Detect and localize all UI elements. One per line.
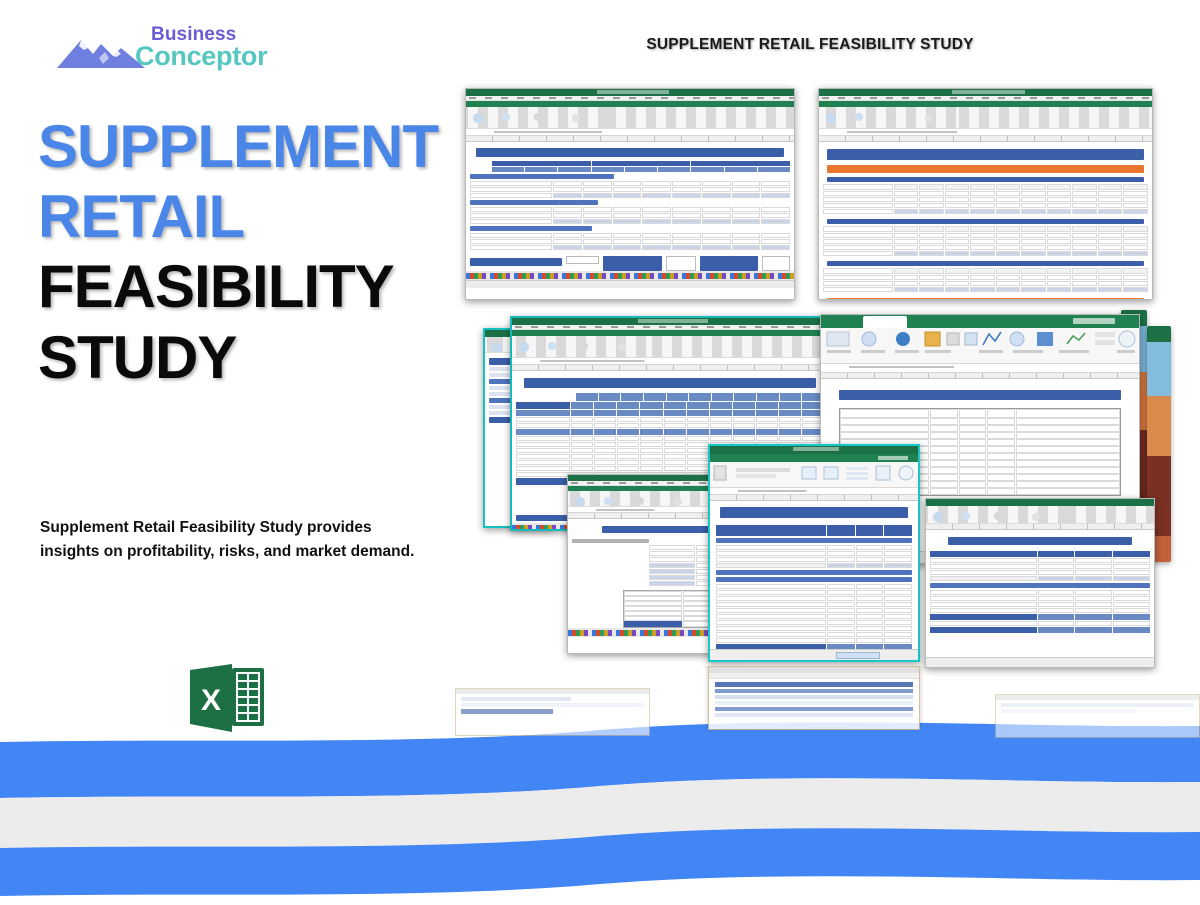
- hero-title-line-2: RETAIL: [38, 182, 468, 252]
- formula-bar[interactable]: [710, 488, 918, 495]
- formula-bar[interactable]: [819, 129, 1152, 136]
- progression-banner: [700, 256, 758, 271]
- brand-name-bottom: Conceptor: [135, 41, 267, 72]
- reflection-window: [995, 694, 1200, 738]
- ribbon-toolbar[interactable]: [466, 107, 794, 129]
- sheet-title-banner: [827, 149, 1144, 160]
- sheet-title-banner: [524, 378, 816, 388]
- sheet-title-banner: [602, 526, 712, 533]
- ribbon-tab-active[interactable]: [863, 316, 907, 328]
- mountain-icon: [55, 30, 147, 70]
- worksheet-grid[interactable]: [710, 501, 918, 662]
- sheet-title-banner: [948, 537, 1132, 545]
- window-titlebar[interactable]: [512, 318, 828, 325]
- formula-bar[interactable]: [512, 358, 828, 365]
- reflection-window: [708, 666, 920, 730]
- formula-bar[interactable]: [821, 364, 1139, 373]
- formula-bar[interactable]: [466, 129, 794, 136]
- sheet-title-banner: [839, 390, 1121, 400]
- ribbon-toolbar[interactable]: [819, 107, 1152, 129]
- section-label: [470, 174, 614, 179]
- page-header-title: SUPPLEMENT RETAIL FEASIBILITY STUDY: [560, 36, 1060, 54]
- ribbon-toolbar[interactable]: [512, 336, 828, 358]
- section-label: [930, 583, 1150, 588]
- excel-icon-letter: X: [201, 684, 221, 717]
- section-label: [470, 226, 592, 231]
- excel-window-partial-right[interactable]: [925, 498, 1155, 668]
- excel-window-compte-resultat[interactable]: [708, 444, 920, 662]
- ribbon-toolbar[interactable]: [821, 328, 1139, 364]
- worksheet-grid[interactable]: [466, 142, 794, 271]
- section-label: [470, 200, 598, 205]
- hero-title-line-4: STUDY: [38, 323, 468, 393]
- sheet-tab-bar[interactable]: [710, 649, 918, 660]
- os-taskbar[interactable]: [466, 271, 794, 280]
- hero-title: SUPPLEMENT RETAIL FEASIBILITY STUDY: [38, 112, 468, 393]
- excel-window-chiffre-affaires[interactable]: [465, 88, 795, 300]
- section-label: [716, 577, 912, 582]
- total-banner: [470, 258, 562, 266]
- section-label: [572, 539, 649, 543]
- hero-title-line-3: FEASIBILITY: [38, 252, 468, 322]
- collage-reflection: [455, 666, 1200, 784]
- window-titlebar[interactable]: [466, 89, 794, 96]
- excel-window-budget-previsionnel[interactable]: [818, 88, 1153, 300]
- section-label: [716, 570, 912, 575]
- share-button[interactable]: [1073, 318, 1115, 324]
- ribbon-tabs[interactable]: [821, 315, 1139, 328]
- section-label: [716, 538, 912, 543]
- ribbon-tabs[interactable]: [710, 454, 918, 462]
- sheet-tab-active[interactable]: [836, 652, 880, 659]
- table-subtitle: [827, 261, 1144, 266]
- hero-title-line-1: SUPPLEMENT: [38, 112, 468, 182]
- table-subtitle: [827, 219, 1144, 224]
- hero-subtitle: Supplement Retail Feasibility Study prov…: [40, 516, 425, 563]
- screenshot-collage: [455, 78, 1200, 698]
- window-titlebar[interactable]: [819, 89, 1152, 96]
- status-bar: [466, 280, 794, 288]
- sheet-title-banner: [476, 148, 784, 157]
- brand-logo[interactable]: Business Conceptor: [55, 24, 285, 76]
- worksheet-grid[interactable]: [819, 142, 1152, 300]
- table-subtitle: [827, 177, 1144, 182]
- sheet-title-banner: [720, 507, 908, 518]
- share-button[interactable]: [878, 456, 908, 460]
- worksheet-grid[interactable]: [926, 530, 1154, 633]
- window-titlebar[interactable]: [926, 499, 1154, 506]
- progression-banner: [603, 256, 661, 271]
- ribbon-toolbar[interactable]: [710, 462, 918, 488]
- year-band: [827, 298, 1144, 300]
- ribbon-toolbar[interactable]: [926, 506, 1154, 524]
- year-band: [827, 165, 1144, 173]
- reflection-window: [455, 688, 650, 736]
- window-titlebar[interactable]: [710, 446, 918, 454]
